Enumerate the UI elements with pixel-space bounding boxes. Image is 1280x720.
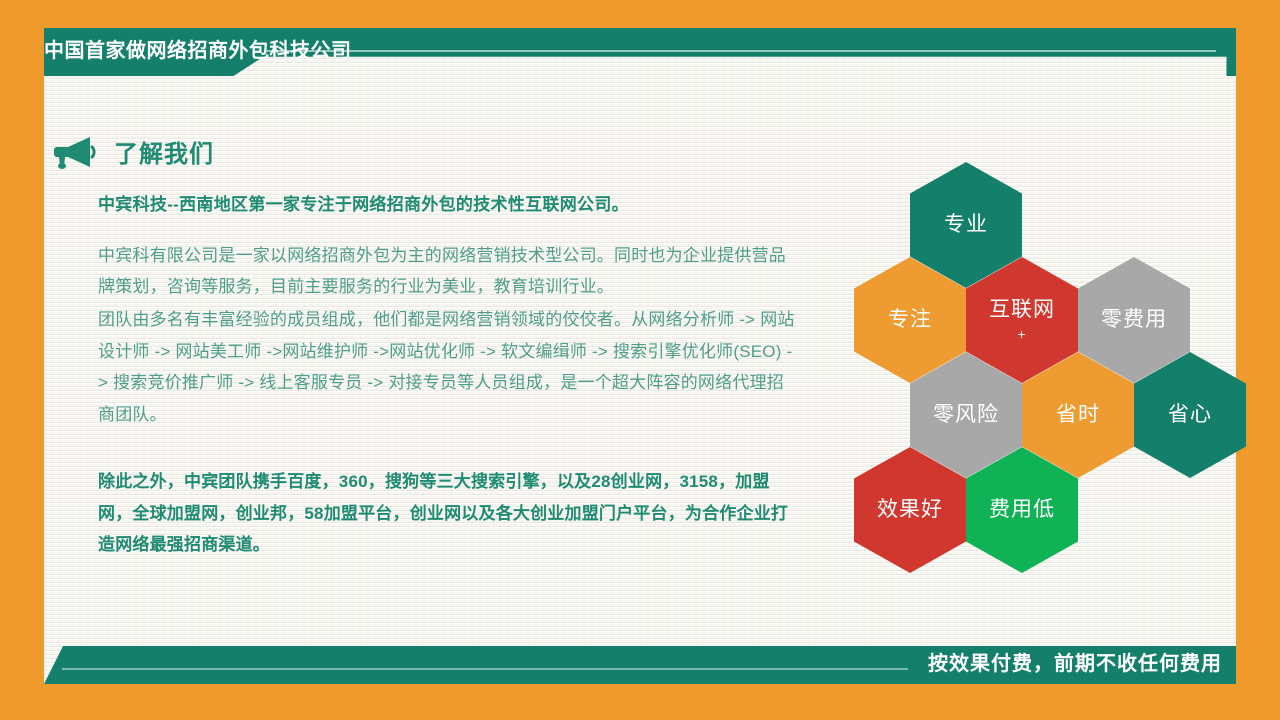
- hexagon-label: 省心: [1168, 403, 1212, 427]
- hexagon-label: 零风险: [933, 403, 999, 427]
- hexagon-cluster: 专业专注互联网+零费用零风险省时省心效果好费用低: [838, 162, 1238, 542]
- hexagon-sublabel: +: [1017, 326, 1026, 342]
- hexagon-label: 互联网: [989, 298, 1055, 322]
- footer-divider-line: [62, 668, 908, 670]
- hexagon-label: 省时: [1056, 403, 1100, 427]
- closing-paragraph: 除此之外，中宾团队携手百度，360，搜狗等三大搜索引擎，以及28创业网，3158…: [98, 466, 798, 560]
- body-paragraph-1: 中宾科有限公司是一家以网络招商外包为主的网络营销技术型公司。同时也为企业提供营品…: [98, 240, 798, 303]
- hexagon-label: 费用低: [989, 498, 1055, 522]
- hexagon-label: 效果好: [877, 498, 943, 522]
- hexagon-label: 零费用: [1101, 308, 1167, 332]
- section-heading: 了解我们: [52, 134, 214, 169]
- header-divider-line: [264, 50, 1216, 52]
- body-paragraph-2: 团队由多名有丰富经验的成员组成，他们都是网络营销领域的佼佼者。从网络分析师 ->…: [98, 304, 798, 430]
- megaphone-icon: [52, 135, 98, 169]
- hexagon-label: 专注: [888, 308, 932, 332]
- section-title: 了解我们: [114, 134, 214, 169]
- hexagon-label: 专业: [944, 213, 988, 237]
- intro-paragraph: 中宾科技--西南地区第一家专注于网络招商外包的技术性互联网公司。: [98, 192, 798, 218]
- footer-tagline: 按效果付费，前期不收任何费用: [928, 646, 1222, 684]
- about-text-column: 中宾科技--西南地区第一家专注于网络招商外包的技术性互联网公司。 中宾科有限公司…: [98, 192, 798, 560]
